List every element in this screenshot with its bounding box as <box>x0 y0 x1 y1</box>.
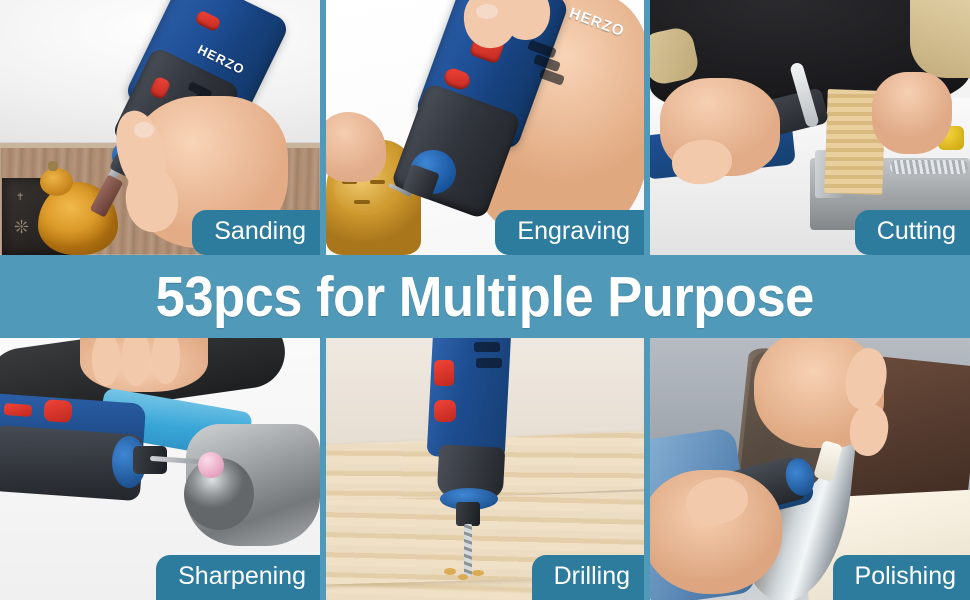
wood-shaving <box>458 574 468 580</box>
headline-banner: 53pcs for Multiple Purpose <box>0 255 970 338</box>
wood-shaving <box>472 570 484 576</box>
pink-grinding-stone-bit <box>198 452 224 478</box>
caption-badge-drilling: Drilling <box>532 555 644 600</box>
fingernail <box>134 122 154 138</box>
caption-badge-sanding: Sanding <box>192 210 320 255</box>
tile-engraving: HERZO Engraving <box>326 0 644 255</box>
caption-badge-cutting: Cutting <box>855 210 970 255</box>
power-button[interactable] <box>434 400 456 422</box>
tile-drilling: Drilling <box>326 338 644 600</box>
speed-button[interactable] <box>434 360 454 386</box>
stone-carving-mark: ✝ <box>16 192 24 203</box>
holding-hand <box>326 112 386 182</box>
product-collage: ✝ ❊ HERZO Sanding <box>0 0 970 600</box>
gourd-neck <box>40 168 73 196</box>
vent-slot <box>476 358 502 368</box>
tile-sanding: ✝ ❊ HERZO Sanding <box>0 0 320 255</box>
caption-badge-engraving: Engraving <box>495 210 644 255</box>
headline-text: 53pcs for Multiple Purpose <box>156 267 814 327</box>
speed-switch[interactable] <box>4 403 33 417</box>
vent-slot <box>474 342 500 352</box>
figurine-mouth <box>354 200 370 204</box>
figurine-eye <box>370 180 385 184</box>
wood-shaving <box>444 568 456 575</box>
right-sleeve <box>910 0 970 78</box>
gourd-stem <box>48 161 58 171</box>
twist-drill-bit <box>464 524 472 576</box>
finger <box>92 338 120 386</box>
hand-steadying-vise <box>872 72 952 154</box>
tool-body <box>427 338 512 460</box>
chuck <box>456 502 480 526</box>
caption-badge-polishing: Polishing <box>833 555 970 600</box>
stone-carving-glyph: ❊ <box>14 222 29 233</box>
tile-cutting: Cutting <box>650 0 970 255</box>
vise-screw <box>890 160 968 174</box>
power-button[interactable] <box>43 399 72 423</box>
caption-badge-sharpening: Sharpening <box>156 555 320 600</box>
tile-sharpening: Sharpening <box>0 338 320 600</box>
tile-polishing: Polishing <box>650 338 970 600</box>
fingernail <box>476 4 498 19</box>
